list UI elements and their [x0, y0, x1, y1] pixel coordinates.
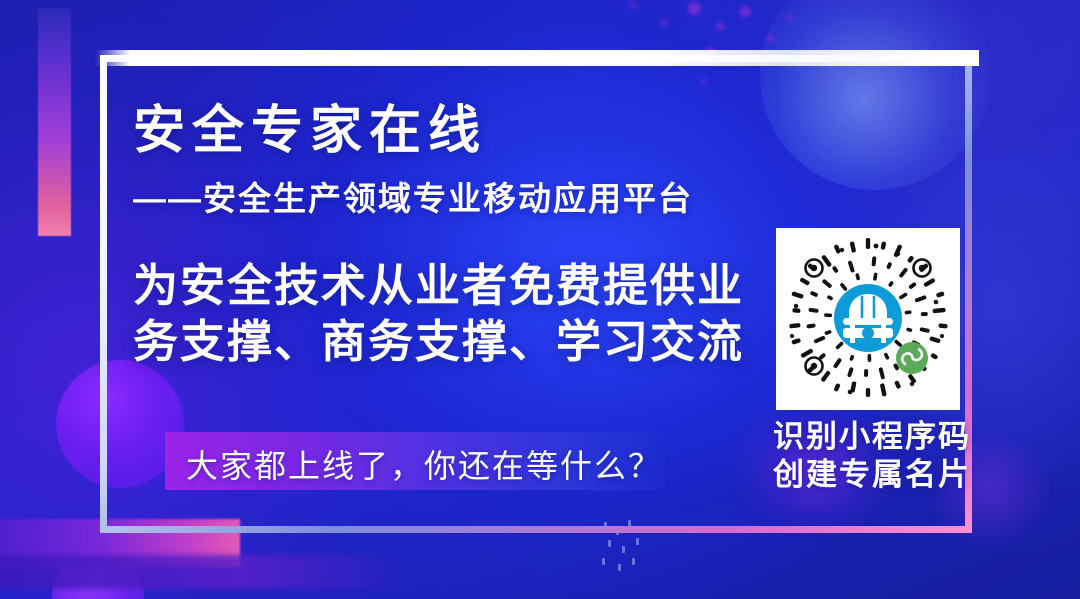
banner-content: 安全专家在线 ——安全生产领域专业移动应用平台 为安全技术从业者免费提供业 务支…	[0, 0, 1080, 599]
wechat-miniprogram-icon	[896, 342, 928, 374]
promo-banner: 安全专家在线 ——安全生产领域专业移动应用平台 为安全技术从业者免费提供业 务支…	[0, 0, 1080, 599]
headline-line-1: 为安全技术从业者免费提供业	[133, 258, 744, 314]
headline-line-2: 务支撑、商务支撑、学习交流	[133, 314, 744, 370]
wechat-miniprogram-qr-code[interactable]	[780, 232, 956, 406]
banner-subtitle: ——安全生产领域专业移动应用平台	[133, 172, 693, 220]
qr-caption-line-1: 识别小程序码	[773, 418, 971, 456]
safety-helmet-gear-icon	[834, 284, 902, 352]
qr-caption: 识别小程序码 创建专属名片	[773, 418, 971, 494]
banner-tagline: 大家都上线了，你还在等什么？	[186, 441, 662, 487]
banner-title: 安全专家在线	[133, 88, 487, 163]
qr-code-panel[interactable]	[776, 228, 960, 410]
qr-caption-line-2: 创建专属名片	[773, 456, 971, 494]
banner-headline: 为安全技术从业者免费提供业 务支撑、商务支撑、学习交流	[133, 258, 744, 370]
